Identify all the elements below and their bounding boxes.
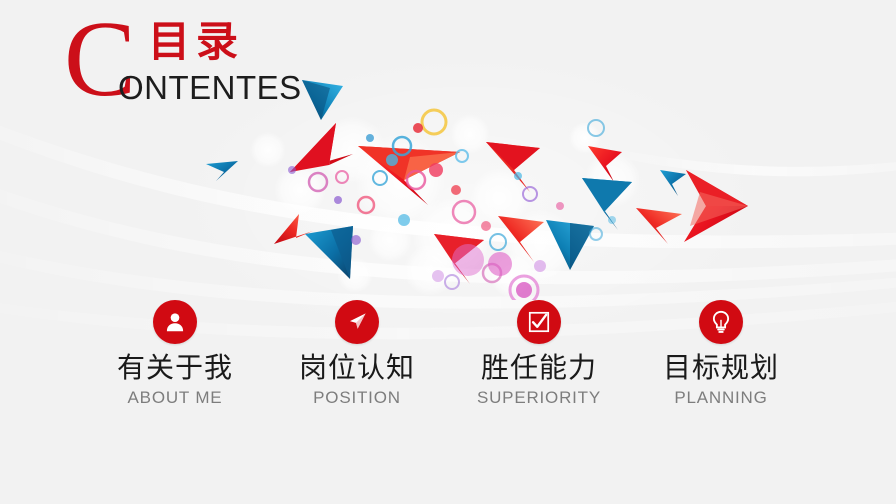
red-arrow-left-small <box>274 214 313 244</box>
menu-item-label-en: PLANNING <box>630 387 812 409</box>
person-icon <box>162 309 188 335</box>
menu-item-label-en: ABOUT ME <box>84 387 266 409</box>
menu-item-label-cn: 有关于我 <box>84 352 266 384</box>
lightbulb-icon-badge <box>699 300 743 344</box>
person-icon-badge <box>153 300 197 344</box>
red-arrow-right-small <box>636 208 682 244</box>
blue-arrow-left <box>206 161 238 181</box>
navigation-arrow-icon-badge <box>335 300 379 344</box>
abstract-arrow-cluster-artwork <box>0 30 896 300</box>
blue-arrow-right-small <box>660 170 686 196</box>
red-arrow-far-right <box>684 170 748 242</box>
menu-item-about-me[interactable]: 有关于我 ABOUT ME <box>84 300 266 409</box>
blue-triangle-left <box>305 226 353 279</box>
menu-item-label-cn: 胜任能力 <box>448 352 630 384</box>
menu-item-position[interactable]: 岗位认知 POSITION <box>266 300 448 409</box>
menu-item-superiority[interactable]: 胜任能力 SUPERIORITY <box>448 300 630 409</box>
checkbox-check-icon <box>526 309 552 335</box>
contents-menu: 有关于我 ABOUT ME 岗位认知 POSITION 胜任能力 SUPERIO <box>0 300 896 430</box>
slide-canvas: C 目录 ONTENTES <box>0 0 896 504</box>
blue-triangle-top <box>302 80 343 120</box>
menu-item-label-en: SUPERIORITY <box>448 387 630 409</box>
menu-item-label-cn: 岗位认知 <box>266 352 448 384</box>
navigation-arrow-icon <box>344 309 370 335</box>
menu-item-planning[interactable]: 目标规划 PLANNING <box>630 300 812 409</box>
menu-item-label-cn: 目标规划 <box>630 352 812 384</box>
checkbox-check-icon-badge <box>517 300 561 344</box>
lightbulb-icon <box>708 309 734 335</box>
menu-item-label-en: POSITION <box>266 387 448 409</box>
